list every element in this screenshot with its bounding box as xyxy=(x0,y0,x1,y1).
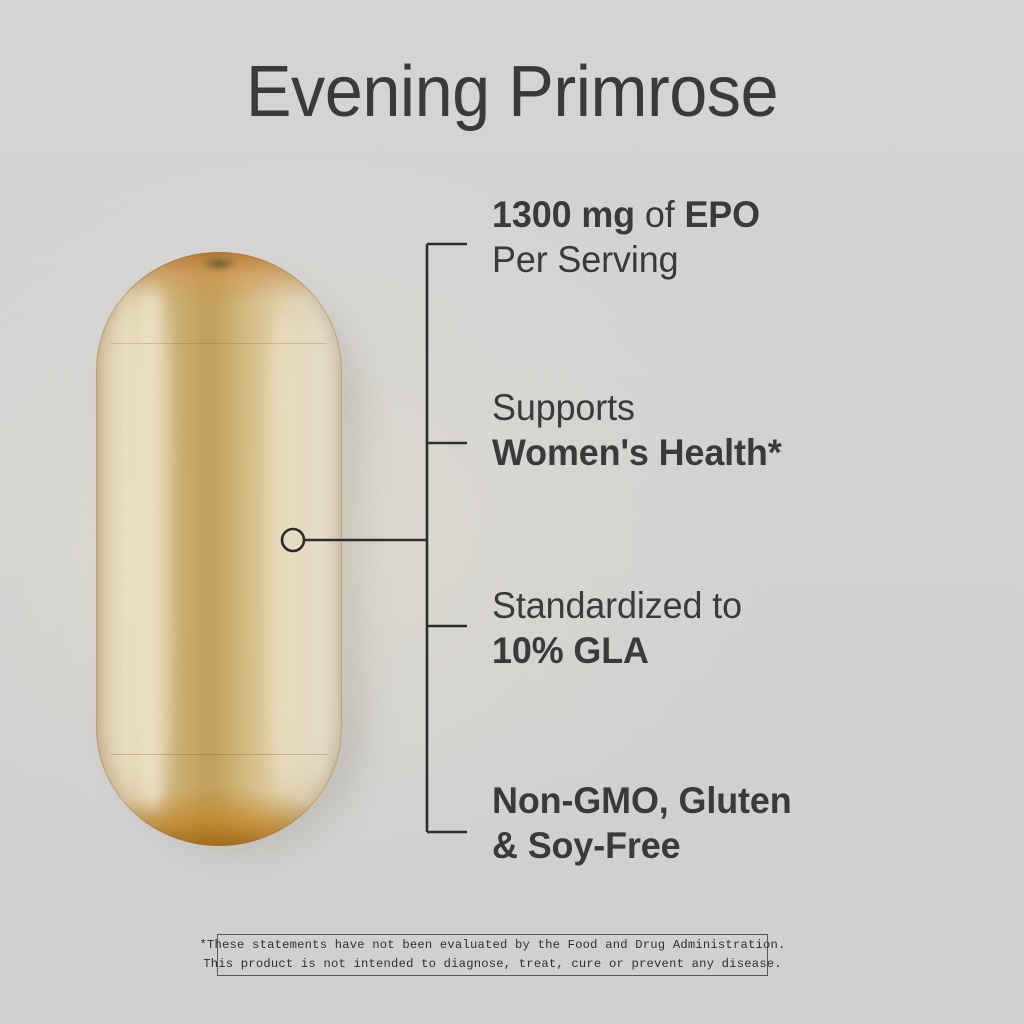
disclaimer-line-1: *These statements have not been evaluate… xyxy=(199,936,785,955)
fda-disclaimer-box: *These statements have not been evaluate… xyxy=(217,934,768,976)
feature-text-emphasis: 10% GLA xyxy=(492,630,649,671)
feature-line: Supports xyxy=(492,385,948,430)
feature-text: Per Serving xyxy=(492,239,678,280)
feature-line: Standardized to xyxy=(492,583,948,628)
feature-text-emphasis: EPO xyxy=(684,194,760,235)
feature-line: 1300 mg of EPO xyxy=(492,192,948,237)
feature-text-emphasis: 1300 mg xyxy=(492,194,635,235)
feature-line: 10% GLA xyxy=(492,628,948,673)
feature-text-emphasis: & Soy-Free xyxy=(492,825,681,866)
capsule-facet-top xyxy=(111,272,327,344)
feature-text: of xyxy=(635,194,685,235)
feature-line: Per Serving xyxy=(492,237,948,282)
page-title: Evening Primrose xyxy=(26,56,999,129)
feature-text-emphasis: Women's Health* xyxy=(492,432,782,473)
feature-line: Non-GMO, Gluten xyxy=(492,778,948,823)
feature-text: Standardized to xyxy=(492,585,742,626)
product-infographic: Evening Primrose 1300 mg of EPOPer Servi… xyxy=(0,0,1024,1024)
feature-line: Women's Health* xyxy=(492,430,948,475)
feature-text-emphasis: Non-GMO, Gluten xyxy=(492,780,792,821)
capsule-core-shading xyxy=(194,276,233,822)
softgel-capsule-image xyxy=(92,250,344,850)
feature-purity-claims: Non-GMO, Gluten& Soy-Free xyxy=(492,778,948,868)
feature-womens-health: SupportsWomen's Health* xyxy=(492,385,948,475)
capsule-highlight-primary xyxy=(126,288,180,811)
disclaimer-line-2: This product is not intended to diagnose… xyxy=(203,955,782,974)
capsule-highlight-secondary xyxy=(258,311,307,786)
feature-text: Supports xyxy=(492,387,635,428)
feature-line: & Soy-Free xyxy=(492,823,948,868)
capsule-top-speck xyxy=(202,256,236,271)
feature-dosage: 1300 mg of EPOPer Serving xyxy=(492,192,948,282)
feature-standardization: Standardized to10% GLA xyxy=(492,583,948,673)
capsule-facet-bottom xyxy=(111,754,327,826)
capsule-body xyxy=(96,252,342,846)
